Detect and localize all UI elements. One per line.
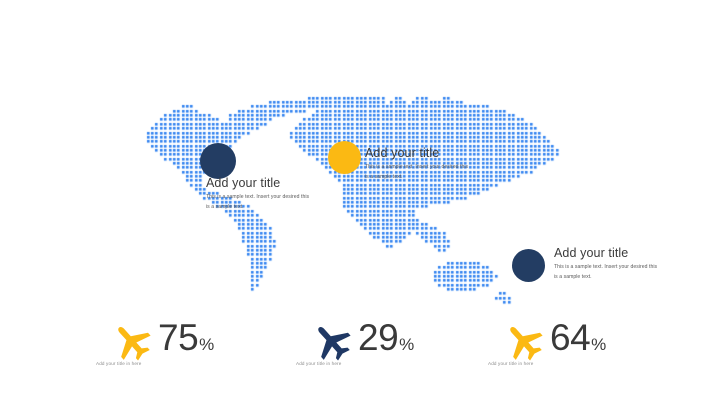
infographic-slide: Add your title This is a sample text. In… xyxy=(0,0,721,404)
airplane-icon xyxy=(304,320,360,364)
stat-item-2[interactable]: Add your title in here 29 % xyxy=(296,318,506,388)
callout-body: This is a sample text. Insert your desir… xyxy=(365,163,473,182)
airplane-icon-glyph xyxy=(496,320,552,364)
stat-item-1[interactable]: Add your title in here 75 % xyxy=(96,318,306,388)
callout-title: Add your title xyxy=(206,176,314,190)
statistics-row: Add your title in here 75 % Add your tit… xyxy=(0,318,721,388)
callout-text-europe-africa: Add your title This is a sample text. In… xyxy=(365,146,473,182)
airplane-icon xyxy=(496,320,552,364)
callout-body: This is a sample text. Insert your desir… xyxy=(554,263,662,282)
callout-text-oceania: Add your title This is a sample text. In… xyxy=(554,246,662,282)
stat-number: 64 xyxy=(550,316,590,360)
stat-value: 64 % xyxy=(550,316,606,367)
stat-number: 75 xyxy=(158,316,198,360)
airplane-icon-glyph xyxy=(304,320,360,364)
map-marker-oceania[interactable] xyxy=(512,249,545,282)
stat-value: 75 % xyxy=(158,316,214,367)
stat-value: 29 % xyxy=(358,316,414,367)
stat-unit: % xyxy=(199,323,214,367)
map-marker-europe-africa[interactable] xyxy=(328,141,361,174)
callout-text-north-america: Add your title This is a sample text. In… xyxy=(206,176,314,212)
stat-number: 29 xyxy=(358,316,398,360)
callout-title: Add your title xyxy=(365,146,473,160)
callout-body: This is a sample text. Insert your desir… xyxy=(206,193,314,212)
stat-unit: % xyxy=(591,323,606,367)
callout-title: Add your title xyxy=(554,246,662,260)
airplane-icon-glyph xyxy=(104,320,160,364)
stat-unit: % xyxy=(399,323,414,367)
stat-item-3[interactable]: Add your title in here 64 % xyxy=(488,318,698,388)
airplane-icon xyxy=(104,320,160,364)
map-marker-north-america[interactable] xyxy=(200,143,236,179)
